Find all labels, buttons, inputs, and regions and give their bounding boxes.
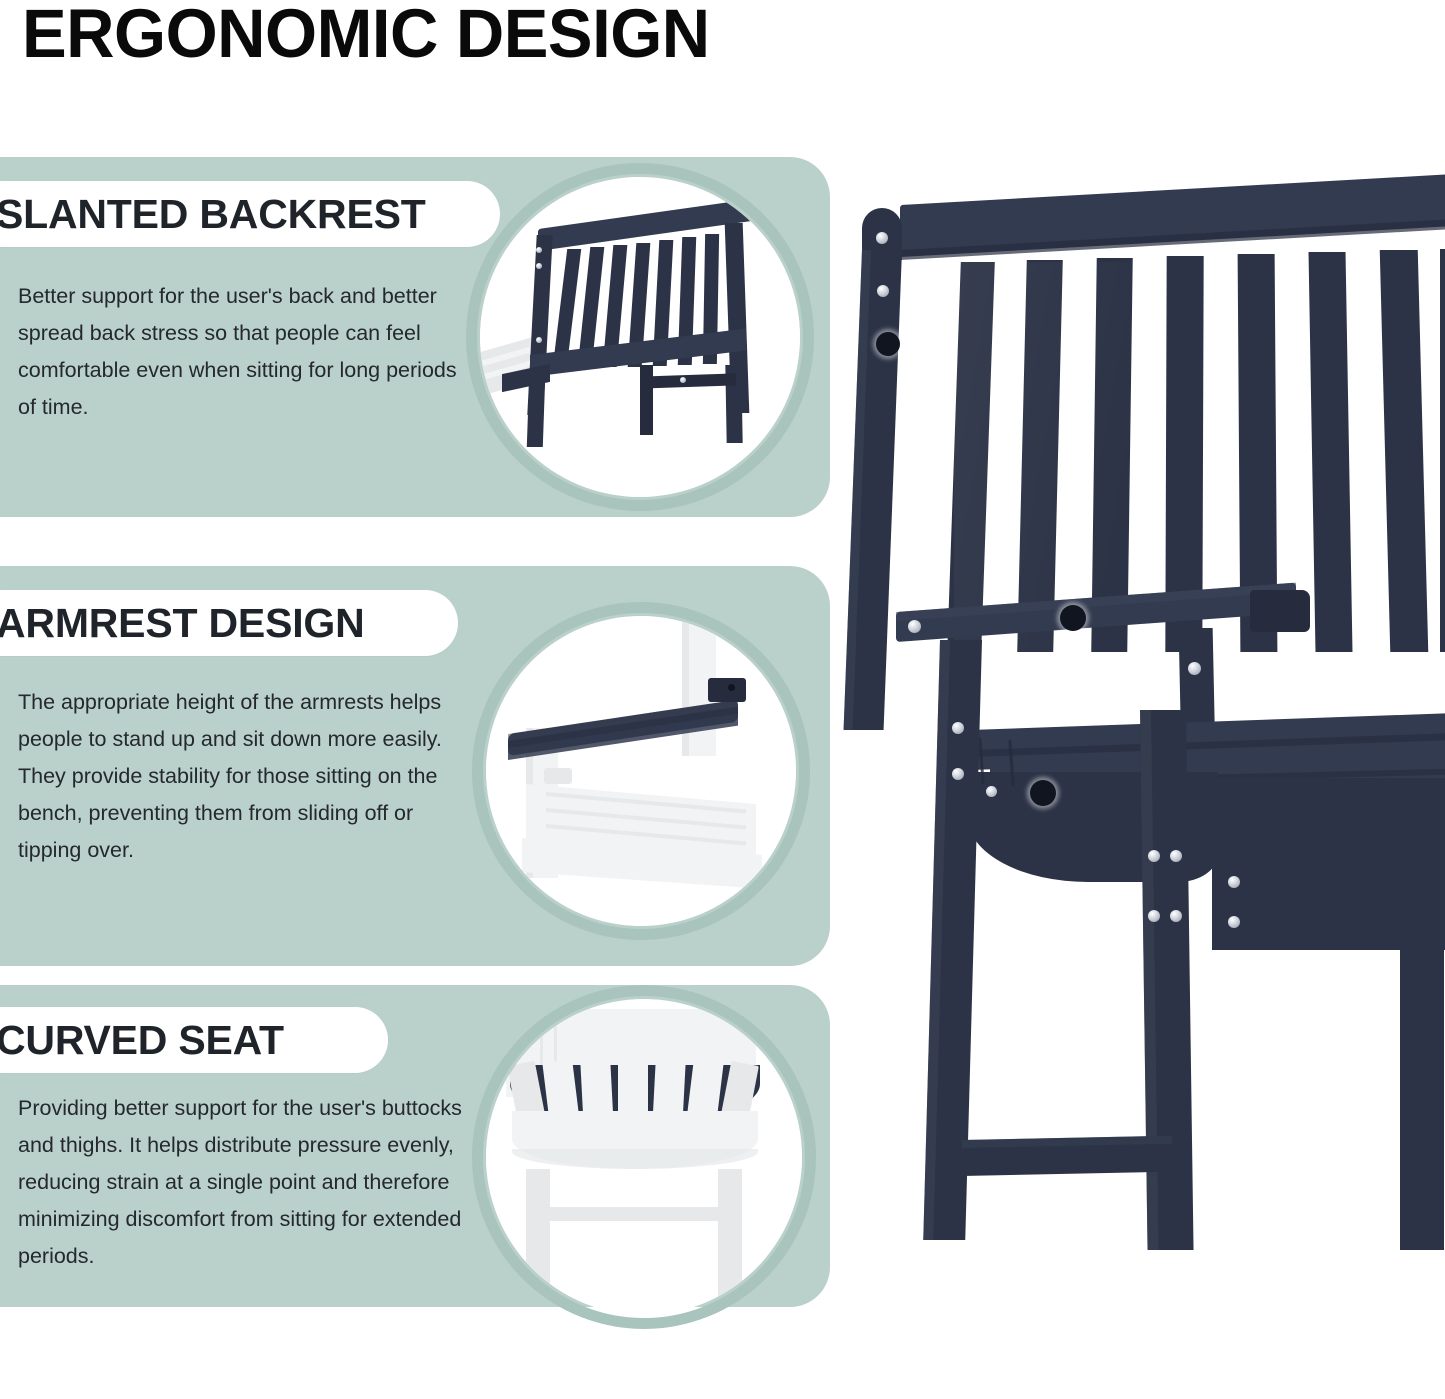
feature-curved-seat: CURVED SEAT Providing better support for…	[0, 985, 830, 1307]
feature-heading-backrest: SLANTED BACKREST	[0, 194, 426, 235]
feature-body-curved-seat: Providing better support for the user's …	[18, 1090, 462, 1275]
body-line: and thighs. It helps distribute pressure…	[18, 1127, 462, 1164]
body-line: The appropriate height of the armrests h…	[18, 684, 442, 721]
feature-heading-pill-curved-seat: CURVED SEAT	[0, 1007, 388, 1073]
feature-heading-pill-backrest: SLANTED BACKREST	[0, 181, 500, 247]
body-line: people to stand up and sit down more eas…	[18, 721, 442, 758]
body-line: Providing better support for the user's …	[18, 1090, 462, 1127]
feature-heading-pill-armrest: ARMREST DESIGN	[0, 590, 458, 656]
body-line: comfortable even when sitting for long p…	[18, 352, 457, 389]
inset-photo-armrest	[486, 616, 796, 926]
body-line: reducing strain at a single point and th…	[18, 1164, 462, 1201]
body-line: They provide stability for those sitting…	[18, 758, 442, 795]
feature-heading-armrest: ARMREST DESIGN	[0, 603, 365, 644]
hero-product-image	[840, 150, 1445, 1350]
body-line: spread back stress so that people can fe…	[18, 315, 457, 352]
feature-armrest-design: ARMREST DESIGN The appropriate height of…	[0, 566, 830, 966]
feature-slanted-backrest: SLANTED BACKREST Better support for the …	[0, 157, 830, 517]
infographic-root: ERGONOMIC DESIGN	[0, 0, 1445, 1399]
inset-photo-curved-seat	[486, 999, 802, 1315]
feature-heading-curved-seat: CURVED SEAT	[0, 1020, 284, 1061]
body-line: minimizing discomfort from sitting for e…	[18, 1201, 462, 1238]
feature-body-backrest: Better support for the user's back and b…	[18, 278, 457, 426]
body-line: tipping over.	[18, 832, 442, 869]
body-line: periods.	[18, 1238, 462, 1275]
body-line: Better support for the user's back and b…	[18, 278, 457, 315]
inset-photo-backrest	[480, 177, 800, 497]
body-line: bench, preventing them from sliding off …	[18, 795, 442, 832]
body-line: of time.	[18, 389, 457, 426]
page-title: ERGONOMIC DESIGN	[22, 0, 710, 73]
feature-body-armrest: The appropriate height of the armrests h…	[18, 684, 442, 869]
